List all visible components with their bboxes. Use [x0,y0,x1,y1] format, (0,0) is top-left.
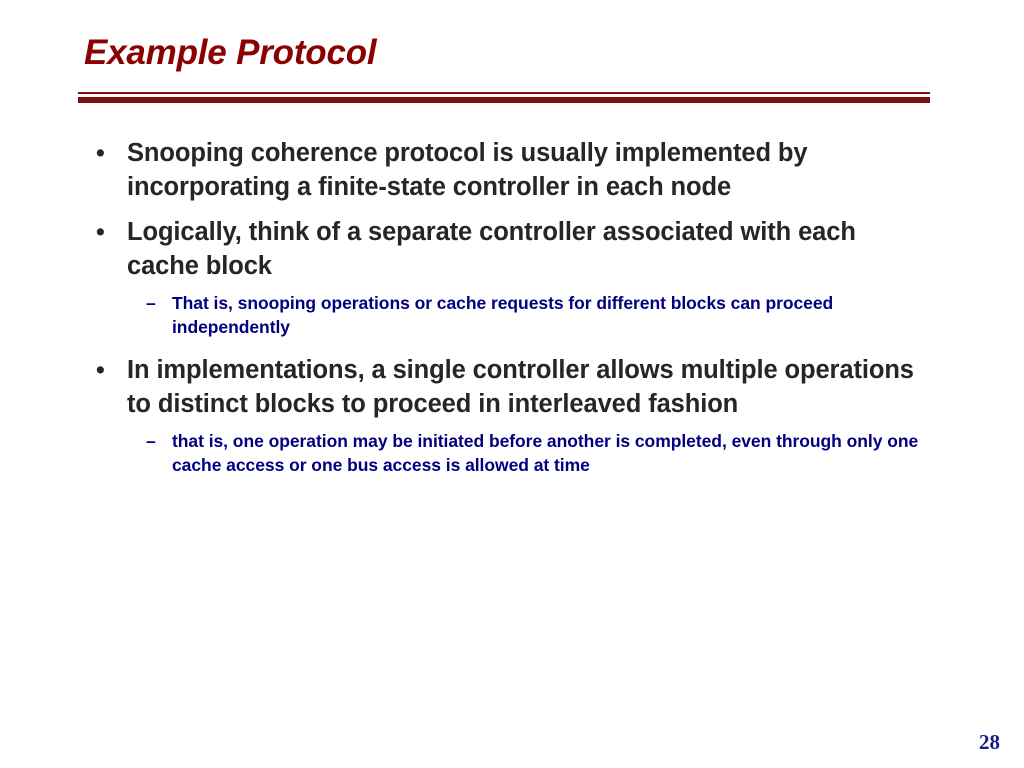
bullet-item: • Logically, think of a separate control… [0,215,1024,283]
page-number: 28 [979,730,1000,754]
title-divider-thick-line [78,97,930,103]
slide-body: • Snooping coherence protocol is usually… [0,136,1024,488]
page-title: Example Protocol [84,30,964,76]
bullet-marker-icon: • [96,353,116,387]
sub-bullet-text: that is, one operation may be initiated … [172,429,932,477]
title-divider [78,92,930,103]
bullet-text: In implementations, a single controller … [127,353,927,421]
bullet-text: Logically, think of a separate controlle… [127,215,927,283]
sub-bullet-text: That is, snooping operations or cache re… [172,291,932,339]
bullet-marker-icon: • [96,136,116,170]
bullet-item: • Snooping coherence protocol is usually… [0,136,1024,204]
sub-bullet-item: – That is, snooping operations or cache … [0,291,1024,339]
bullet-marker-icon: • [96,215,116,249]
presentation-slide: Example Protocol • Snooping coherence pr… [0,0,1024,768]
bullet-text: Snooping coherence protocol is usually i… [127,136,927,204]
dash-marker-icon: – [146,429,166,453]
sub-bullet-item: – that is, one operation may be initiate… [0,429,1024,477]
dash-marker-icon: – [146,291,166,315]
bullet-item: • In implementations, a single controlle… [0,353,1024,421]
